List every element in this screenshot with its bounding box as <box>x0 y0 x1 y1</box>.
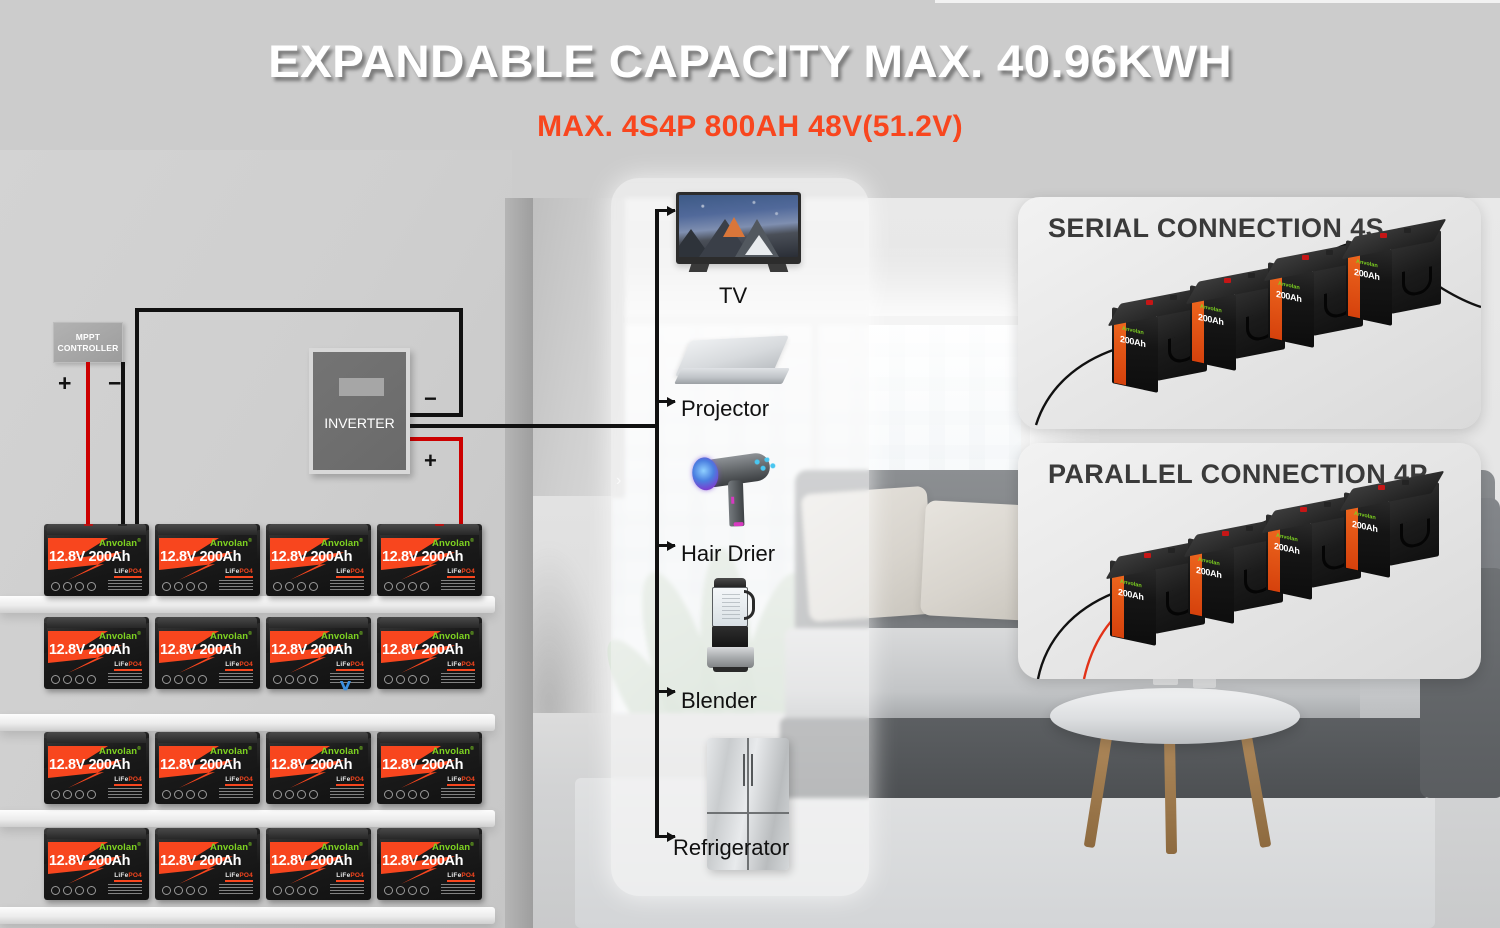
battery-row: Anvolan®12.8V 200AhLiFePO4Anvolan®12.8V … <box>44 828 482 900</box>
battery-handle <box>479 623 482 653</box>
certification-icon <box>408 790 417 799</box>
battery-chemistry-label: LiFePO4 <box>114 872 142 879</box>
battery-negative-terminal <box>1248 273 1255 278</box>
battery-chemistry-label: LiFePO4 <box>114 661 142 668</box>
battery-brand-label: Anvolan® <box>99 538 141 549</box>
certification-icon <box>51 582 60 591</box>
battery-unit: Anvolan®12.8V 200AhLiFePO4 <box>44 828 149 900</box>
battery-chemistry-label: LiFePO4 <box>225 872 253 879</box>
battery-accent-bar <box>225 880 253 882</box>
battery-unit: Anvolan®12.8V 200AhLiFePO4 <box>377 732 482 804</box>
certification-icon <box>285 886 294 895</box>
battery-top-cover <box>158 524 257 535</box>
battery-fineprint <box>219 884 253 894</box>
battery-accent-bar <box>447 576 475 578</box>
certification-icon <box>174 582 183 591</box>
battery-unit: Anvolan®12.8V 200AhLiFePO4 <box>44 617 149 689</box>
certification-icon <box>384 675 393 684</box>
battery-positive-terminal <box>1222 531 1229 536</box>
battery-certification-icons <box>384 582 429 591</box>
infographic-canvas: EXPANDABLE CAPACITY MAX. 40.96KWH MAX. 4… <box>0 0 1500 928</box>
wall-edge-column <box>505 198 533 928</box>
certification-icon <box>420 886 429 895</box>
inverter-plus-label: + <box>424 450 437 472</box>
certification-icon <box>285 582 294 591</box>
parallel-battery: Anvolan200Ah <box>1344 483 1439 575</box>
battery-spec-label: 12.8V 200Ah <box>160 757 256 773</box>
table-leg <box>1164 734 1177 854</box>
battery-fineprint <box>108 580 142 590</box>
certification-icon <box>75 675 84 684</box>
battery-fineprint <box>441 884 475 894</box>
blender-icon <box>700 578 762 674</box>
battery-chemistry-label: LiFePO4 <box>114 568 142 575</box>
shelf <box>0 907 495 924</box>
bank-left-drop-wire <box>135 308 139 534</box>
battery-accent-bar <box>336 784 364 786</box>
battery-chemistry-label: LiFePO4 <box>225 568 253 575</box>
battery-handle <box>368 623 371 653</box>
battery-spec-label: 12.8V 200Ah <box>271 757 367 773</box>
certification-icon <box>87 886 96 895</box>
battery-chemistry-label: LiFePO4 <box>447 661 475 668</box>
mppt-controller-box: MPPT CONTROLLER <box>53 322 123 363</box>
certification-icon <box>87 675 96 684</box>
certification-icon <box>297 582 306 591</box>
battery-negative-terminal <box>1170 295 1177 300</box>
battery-certification-icons <box>51 886 96 895</box>
mppt-positive-wire <box>86 362 90 534</box>
certification-icon <box>309 790 318 799</box>
certification-icon <box>186 790 195 799</box>
battery-chemistry-label: LiFePO4 <box>336 872 364 879</box>
inverter-positive-lead <box>410 437 463 441</box>
battery-handle <box>368 530 371 560</box>
battery-unit: Anvolan®12.8V 200AhLiFePO4 <box>377 828 482 900</box>
battery-brand-label: Anvolan® <box>210 746 252 757</box>
battery-spec-label: 12.8V 200Ah <box>49 853 145 869</box>
appliance-label-projector: Projector <box>681 396 769 422</box>
battery-unit: Anvolan®12.8V 200AhLiFePO4 <box>155 732 260 804</box>
mppt-negative-wire <box>121 362 125 534</box>
certification-icon <box>51 886 60 895</box>
parallel-connection-card: PARALLEL CONNECTION 4P Anvolan200Ah Anvo… <box>1018 443 1481 679</box>
battery-brand-label: Anvolan® <box>432 631 474 642</box>
bank-top-bus-wire <box>135 308 463 312</box>
battery-accent-bar <box>225 669 253 671</box>
battery-positive-terminal <box>1378 485 1385 490</box>
battery-top-cover <box>269 828 368 839</box>
battery-positive-terminal <box>1300 507 1307 512</box>
battery-certification-icons <box>384 886 429 895</box>
battery-brand-label: Anvolan® <box>210 842 252 853</box>
battery-fineprint <box>219 580 253 590</box>
certification-icon <box>285 675 294 684</box>
battery-certification-icons <box>51 790 96 799</box>
certification-icon <box>87 582 96 591</box>
battery-spec-label: 12.8V 200Ah <box>49 757 145 773</box>
battery-fineprint <box>330 788 364 798</box>
battery-brand-label: Anvolan® <box>432 842 474 853</box>
appliance-branch-arrow <box>657 690 675 693</box>
battery-spec-label: 12.8V 200Ah <box>271 549 367 565</box>
certification-icon <box>162 582 171 591</box>
chevron-right-icon: › <box>616 472 621 490</box>
battery-positive-terminal <box>1224 278 1231 283</box>
battery-certification-icons <box>384 790 429 799</box>
certification-icon <box>309 582 318 591</box>
battery-accent-bar <box>447 669 475 671</box>
battery-top-cover <box>269 524 368 535</box>
battery-brand-label: Anvolan® <box>99 842 141 853</box>
certification-icon <box>384 886 393 895</box>
appliance-label-tv: TV <box>719 283 747 309</box>
certification-icon <box>285 790 294 799</box>
battery-certification-icons <box>162 790 207 799</box>
battery-chemistry-label: LiFePO4 <box>447 872 475 879</box>
certification-icon <box>297 886 306 895</box>
battery-top-cover <box>269 732 368 743</box>
battery-top-cover <box>380 617 479 628</box>
battery-handle <box>146 530 149 560</box>
battery-accent-bar <box>447 784 475 786</box>
page-title: EXPANDABLE CAPACITY MAX. 40.96KWH <box>0 36 1500 88</box>
battery-fineprint <box>108 673 142 683</box>
shelf <box>0 596 495 613</box>
battery-brand-label: Anvolan® <box>321 842 363 853</box>
battery-brand-label: Anvolan® <box>99 746 141 757</box>
battery-top-cover <box>47 732 146 743</box>
battery-handle <box>146 738 149 768</box>
battery-spec-label: 12.8V 200Ah <box>271 642 367 658</box>
battery-handle <box>146 834 149 864</box>
battery-unit: Anvolan®12.8V 200AhLiFePO4 <box>266 828 371 900</box>
battery-brand-label: Anvolan® <box>99 631 141 642</box>
battery-row: Anvolan®12.8V 200AhLiFePO4Anvolan®12.8V … <box>44 524 482 596</box>
battery-certification-icons <box>162 675 207 684</box>
battery-handle <box>368 834 371 864</box>
battery-spec-label: 12.8V 200Ah <box>382 853 478 869</box>
battery-top-cover <box>269 617 368 628</box>
battery-spec-label: 12.8V 200Ah <box>49 642 145 658</box>
battery-unit: Anvolan®12.8V 200AhLiFePO4 <box>44 524 149 596</box>
certification-icon <box>75 582 84 591</box>
battery-brand-label: Anvolan® <box>321 746 363 757</box>
battery-brand-label: Anvolan® <box>432 746 474 757</box>
battery-brand-label: Anvolan® <box>210 631 252 642</box>
battery-row: Anvolan®12.8V 200AhLiFePO4Anvolan®12.8V … <box>44 617 482 689</box>
certification-icon <box>273 790 282 799</box>
battery-handle <box>257 623 260 653</box>
battery-unit: Anvolan®12.8V 200AhLiFePO4 <box>377 524 482 596</box>
battery-positive-terminal <box>84 524 93 526</box>
certification-icon <box>273 582 282 591</box>
projector-icon <box>678 338 790 396</box>
battery-negative-terminal <box>118 524 127 526</box>
certification-icon <box>174 675 183 684</box>
certification-icon <box>420 675 429 684</box>
appliance-label-hair-drier: Hair Drier <box>681 541 775 567</box>
inverter-negative-lead <box>410 413 463 417</box>
certification-icon <box>396 790 405 799</box>
battery-handle <box>479 738 482 768</box>
battery-fineprint <box>108 788 142 798</box>
certification-icon <box>396 675 405 684</box>
inverter-to-appliance-bus <box>410 424 658 428</box>
serial-connection-card: SERIAL CONNECTION 4S Anvolan200Ah Anvola… <box>1018 197 1481 429</box>
battery-brand-label: Anvolan® <box>210 538 252 549</box>
battery-chemistry-label: LiFePO4 <box>225 661 253 668</box>
battery-unit: Anvolan®12.8V 200AhLiFePO4 <box>266 732 371 804</box>
battery-fineprint <box>441 673 475 683</box>
certification-icon <box>198 790 207 799</box>
inverter-display-screen <box>339 378 384 396</box>
certification-icon <box>198 582 207 591</box>
battery-chemistry-label: LiFePO4 <box>336 568 364 575</box>
tv-icon <box>676 192 801 264</box>
battery-top-cover <box>380 524 479 535</box>
certification-icon <box>186 582 195 591</box>
battery-accent-bar <box>336 669 364 671</box>
battery-spec-label: 12.8V 200Ah <box>382 549 478 565</box>
mppt-plus-label: + <box>58 372 71 395</box>
battery-negative-terminal <box>1168 548 1175 553</box>
battery-certification-icons <box>51 675 96 684</box>
battery-handle <box>257 834 260 864</box>
certification-icon <box>63 675 72 684</box>
certification-icon <box>186 886 195 895</box>
battery-chemistry-label: LiFePO4 <box>447 568 475 575</box>
battery-positive-terminal <box>435 524 444 526</box>
battery-brand-label: Anvolan® <box>321 631 363 642</box>
appliance-label-blender: Blender <box>681 688 757 714</box>
battery-top-cover <box>158 828 257 839</box>
battery-handle <box>368 738 371 768</box>
battery-top-cover <box>47 524 146 535</box>
battery-handle <box>257 530 260 560</box>
certification-icon <box>408 675 417 684</box>
battery-certification-icons <box>384 675 429 684</box>
battery-unit: Anvolan®12.8V 200AhLiFePO4 <box>44 732 149 804</box>
battery-chemistry-label: LiFePO4 <box>114 776 142 783</box>
certification-icon <box>309 675 318 684</box>
certification-icon <box>384 790 393 799</box>
battery-fineprint <box>108 884 142 894</box>
battery-accent-bar <box>336 576 364 578</box>
certification-icon <box>75 886 84 895</box>
battery-certification-icons <box>162 582 207 591</box>
certification-icon <box>186 675 195 684</box>
battery-accent-bar <box>114 784 142 786</box>
battery-unit: Anvolan®12.8V 200AhLiFePO4 <box>266 524 371 596</box>
battery-certification-icons <box>273 582 318 591</box>
battery-top-cover <box>158 732 257 743</box>
appliance-branch-arrow <box>657 209 675 212</box>
battery-certification-icons <box>273 790 318 799</box>
certification-icon <box>420 790 429 799</box>
battery-fineprint <box>330 580 364 590</box>
battery-accent-bar <box>225 576 253 578</box>
certification-icon <box>174 886 183 895</box>
battery-chemistry-label: LiFePO4 <box>336 776 364 783</box>
certification-icon <box>396 582 405 591</box>
shelf <box>0 714 495 731</box>
inverter-negative-riser <box>459 308 463 417</box>
battery-chemistry-label: LiFePO4 <box>447 776 475 783</box>
top-accent-strip <box>935 0 1500 3</box>
battery-spec-label: 12.8V 200Ah <box>160 549 256 565</box>
certification-icon <box>297 675 306 684</box>
appliance-vertical-bus <box>655 209 659 838</box>
battery-positive-terminal <box>1380 233 1387 238</box>
battery-negative-terminal <box>1404 228 1411 233</box>
certification-icon <box>273 886 282 895</box>
battery-top-cover <box>47 828 146 839</box>
certification-icon <box>198 886 207 895</box>
certification-icon <box>51 675 60 684</box>
inverter-minus-label: − <box>424 388 437 410</box>
battery-spec-label: 12.8V 200Ah <box>160 853 256 869</box>
battery-negative-terminal <box>1402 480 1409 485</box>
certification-icon <box>162 675 171 684</box>
battery-row: Anvolan®12.8V 200AhLiFePO4Anvolan®12.8V … <box>44 732 482 804</box>
certification-icon <box>63 790 72 799</box>
certification-icon <box>198 675 207 684</box>
battery-top-cover <box>158 617 257 628</box>
certification-icon <box>75 790 84 799</box>
battery-spec-label: 12.8V 200Ah <box>160 642 256 658</box>
certification-icon <box>162 790 171 799</box>
battery-fineprint <box>219 788 253 798</box>
battery-accent-bar <box>114 669 142 671</box>
inverter-positive-riser <box>459 437 463 534</box>
battery-handle <box>146 623 149 653</box>
battery-chemistry-label: LiFePO4 <box>336 661 364 668</box>
battery-brand-label: Anvolan® <box>321 538 363 549</box>
battery-unit: Anvolan®12.8V 200AhLiFePO4 <box>377 617 482 689</box>
battery-certification-icons <box>273 886 318 895</box>
page-subtitle: MAX. 4S4P 800AH 48V(51.2V) <box>0 110 1500 144</box>
certification-icon <box>420 582 429 591</box>
battery-negative-terminal <box>1324 502 1331 507</box>
certification-icon <box>384 582 393 591</box>
battery-positive-terminal <box>1146 300 1153 305</box>
certification-icon <box>63 886 72 895</box>
battery-accent-bar <box>447 880 475 882</box>
battery-negative-terminal <box>1326 250 1333 255</box>
battery-certification-icons <box>51 582 96 591</box>
battery-handle <box>257 738 260 768</box>
battery-unit: Anvolan®12.8V 200AhLiFePO4 <box>155 617 260 689</box>
mppt-minus-label: − <box>108 372 121 395</box>
certification-icon <box>273 675 282 684</box>
mppt-label-line2: CONTROLLER <box>57 343 118 354</box>
serial-battery: Anvolan200Ah <box>1346 231 1441 323</box>
battery-fineprint <box>330 884 364 894</box>
coffee-table <box>1050 688 1300 744</box>
battery-fineprint <box>219 673 253 683</box>
inverter-label: INVERTER <box>313 415 406 431</box>
certification-icon <box>51 790 60 799</box>
battery-handle <box>479 530 482 560</box>
battery-certification-icons <box>273 675 318 684</box>
inverter-box: INVERTER <box>309 348 410 474</box>
shelf <box>0 810 495 827</box>
battery-spec-label: 12.8V 200Ah <box>271 853 367 869</box>
certification-icon <box>408 886 417 895</box>
certification-icon <box>309 886 318 895</box>
battery-accent-bar <box>114 576 142 578</box>
certification-icon <box>297 790 306 799</box>
battery-fineprint <box>441 580 475 590</box>
battery-handle <box>479 834 482 864</box>
battery-top-cover <box>380 732 479 743</box>
battery-fineprint <box>441 788 475 798</box>
mppt-label-line1: MPPT <box>76 332 100 343</box>
battery-unit: Anvolan®12.8V 200AhLiFePO4 <box>155 524 260 596</box>
battery-accent-bar <box>225 784 253 786</box>
selection-chevron-icon: ∨ <box>338 676 353 694</box>
certification-icon <box>87 790 96 799</box>
battery-positive-terminal <box>1302 255 1309 260</box>
battery-accent-bar <box>114 880 142 882</box>
certification-icon <box>63 582 72 591</box>
battery-spec-label: 12.8V 200Ah <box>382 642 478 658</box>
battery-top-cover <box>380 828 479 839</box>
battery-unit: Anvolan®12.8V 200AhLiFePO4 <box>266 617 371 689</box>
appliance-branch-arrow <box>657 400 675 403</box>
certification-icon <box>408 582 417 591</box>
certification-icon <box>396 886 405 895</box>
battery-brand-label: Anvolan® <box>432 538 474 549</box>
battery-chemistry-label: LiFePO4 <box>225 776 253 783</box>
certification-icon <box>162 886 171 895</box>
appliance-label-refrigerator: Refrigerator <box>673 835 789 861</box>
battery-certification-icons <box>162 886 207 895</box>
battery-positive-terminal <box>1144 553 1151 558</box>
battery-accent-bar <box>336 880 364 882</box>
battery-spec-label: 12.8V 200Ah <box>382 757 478 773</box>
hair-drier-icon <box>688 440 786 528</box>
certification-icon <box>174 790 183 799</box>
appliance-branch-arrow <box>657 544 675 547</box>
battery-spec-label: 12.8V 200Ah <box>49 549 145 565</box>
battery-unit: Anvolan®12.8V 200AhLiFePO4 <box>155 828 260 900</box>
battery-negative-terminal <box>1246 526 1253 531</box>
battery-top-cover <box>47 617 146 628</box>
